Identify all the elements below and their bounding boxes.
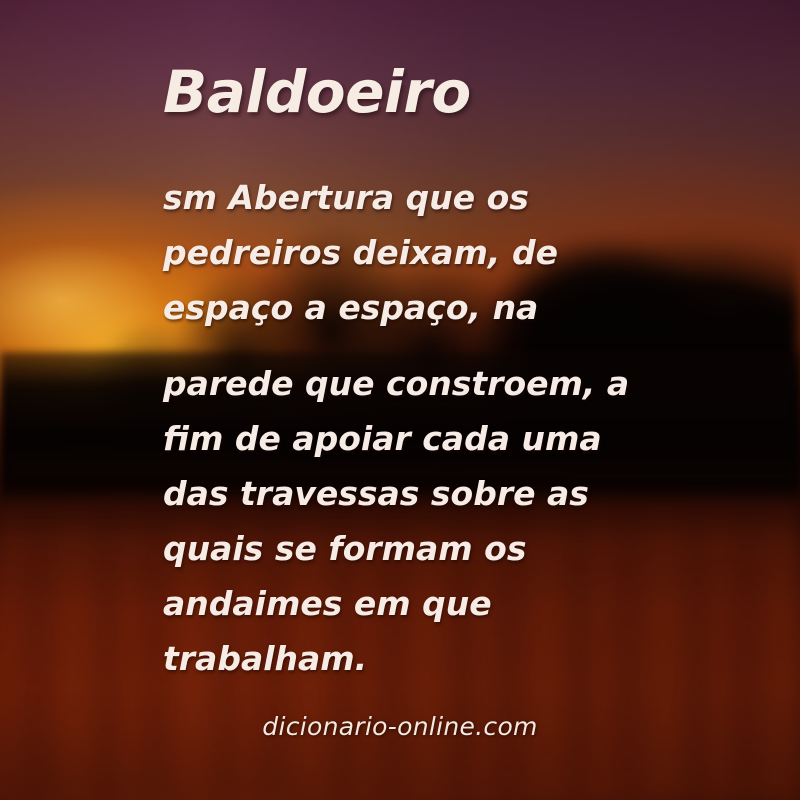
definition-line: pedreiros deixam, de [163,225,633,280]
card-content: Baldoeiro sm Abertura que os pedreiros d… [0,0,800,800]
definition-line: trabalham. [163,631,633,686]
definition-line: das travessas sobre as [163,466,633,521]
definition-text: sm Abertura que os pedreiros deixam, de … [163,170,633,686]
dictionary-definition-card: Baldoeiro sm Abertura que os pedreiros d… [0,0,800,800]
definition-line: andaimes em que [163,576,633,631]
source-website-label: dicionario-online.com [262,712,537,741]
definition-paragraph: sm Abertura que os pedreiros deixam, de … [163,170,633,335]
definition-paragraph: parede que constroem, a fim de apoiar ca… [163,356,633,686]
word-title: Baldoeiro [163,58,471,126]
definition-line: espaço a espaço, na [163,280,633,335]
definition-line: quais se formam os [163,521,633,576]
definition-line: fim de apoiar cada uma [163,411,633,466]
definition-line: sm Abertura que os [163,170,633,225]
definition-line: parede que constroem, a [163,356,633,411]
source-footer: dicionario-online.com [0,712,800,741]
